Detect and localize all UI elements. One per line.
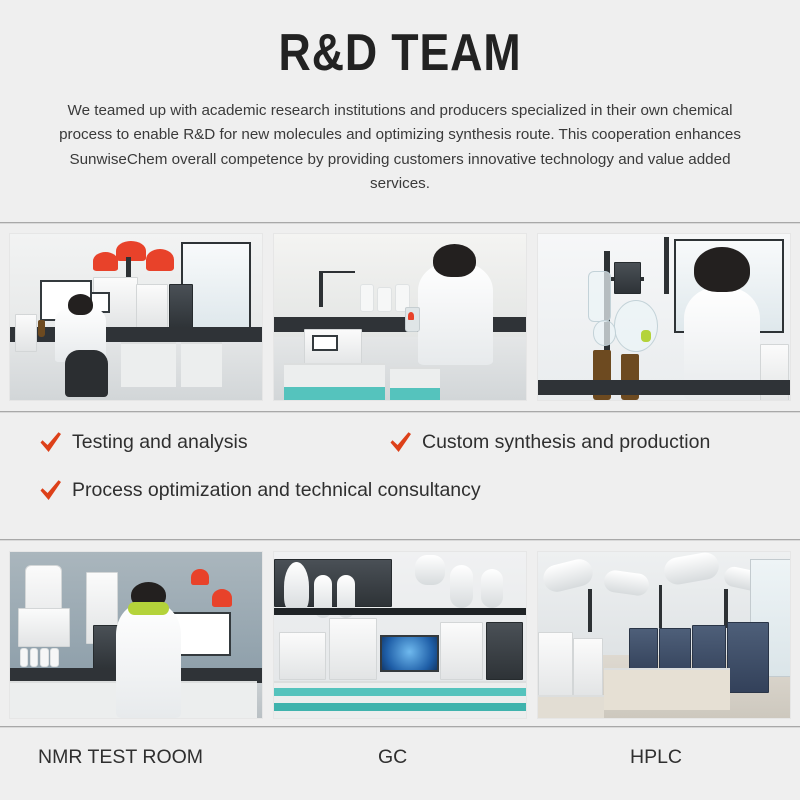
divider-above-bottom-photos — [0, 539, 800, 541]
intro-paragraph: We teamed up with academic research inst… — [50, 99, 750, 198]
checklist-item-label: Custom synthesis and production — [422, 433, 710, 453]
checklist-item-label: Testing and analysis — [72, 433, 248, 453]
page-title: R&D TEAM — [56, 26, 744, 81]
caption-hplc: HPLC — [630, 746, 682, 769]
photo-nmr-test-room — [9, 551, 263, 719]
photo-hplc-workstation — [9, 233, 263, 401]
header-section: R&D TEAM We teamed up with academic rese… — [0, 0, 800, 197]
photo-row-top — [9, 233, 791, 401]
photo-row-bottom — [9, 551, 791, 719]
caption-gc: GC — [378, 746, 407, 769]
photo-gc-instrument-room — [273, 551, 527, 719]
rd-team-page: R&D TEAM We teamed up with academic rese… — [0, 0, 800, 800]
checklist-item-testing-and-analysis: Testing and analysis — [38, 430, 248, 456]
capabilities-checklist: Testing and analysis Custom synthesis an… — [0, 420, 800, 530]
photo-chemist-at-bench — [273, 233, 527, 401]
checklist-item-custom-synthesis-and-production: Custom synthesis and production — [388, 430, 710, 456]
check-mark-icon — [388, 430, 414, 456]
check-mark-icon — [38, 430, 64, 456]
divider-below-top-photos — [0, 411, 800, 413]
photo-rotary-evaporator — [537, 233, 791, 401]
checklist-item-label: Process optimization and technical consu… — [72, 481, 481, 501]
photo-hplc-instrument-row — [537, 551, 791, 719]
caption-nmr-test-room: NMR TEST ROOM — [38, 746, 203, 769]
divider-below-header — [0, 222, 800, 224]
checklist-item-process-optimization: Process optimization and technical consu… — [38, 478, 481, 504]
check-mark-icon — [38, 478, 64, 504]
photo-captions-row: NMR TEST ROOM GC HPLC — [0, 726, 800, 800]
